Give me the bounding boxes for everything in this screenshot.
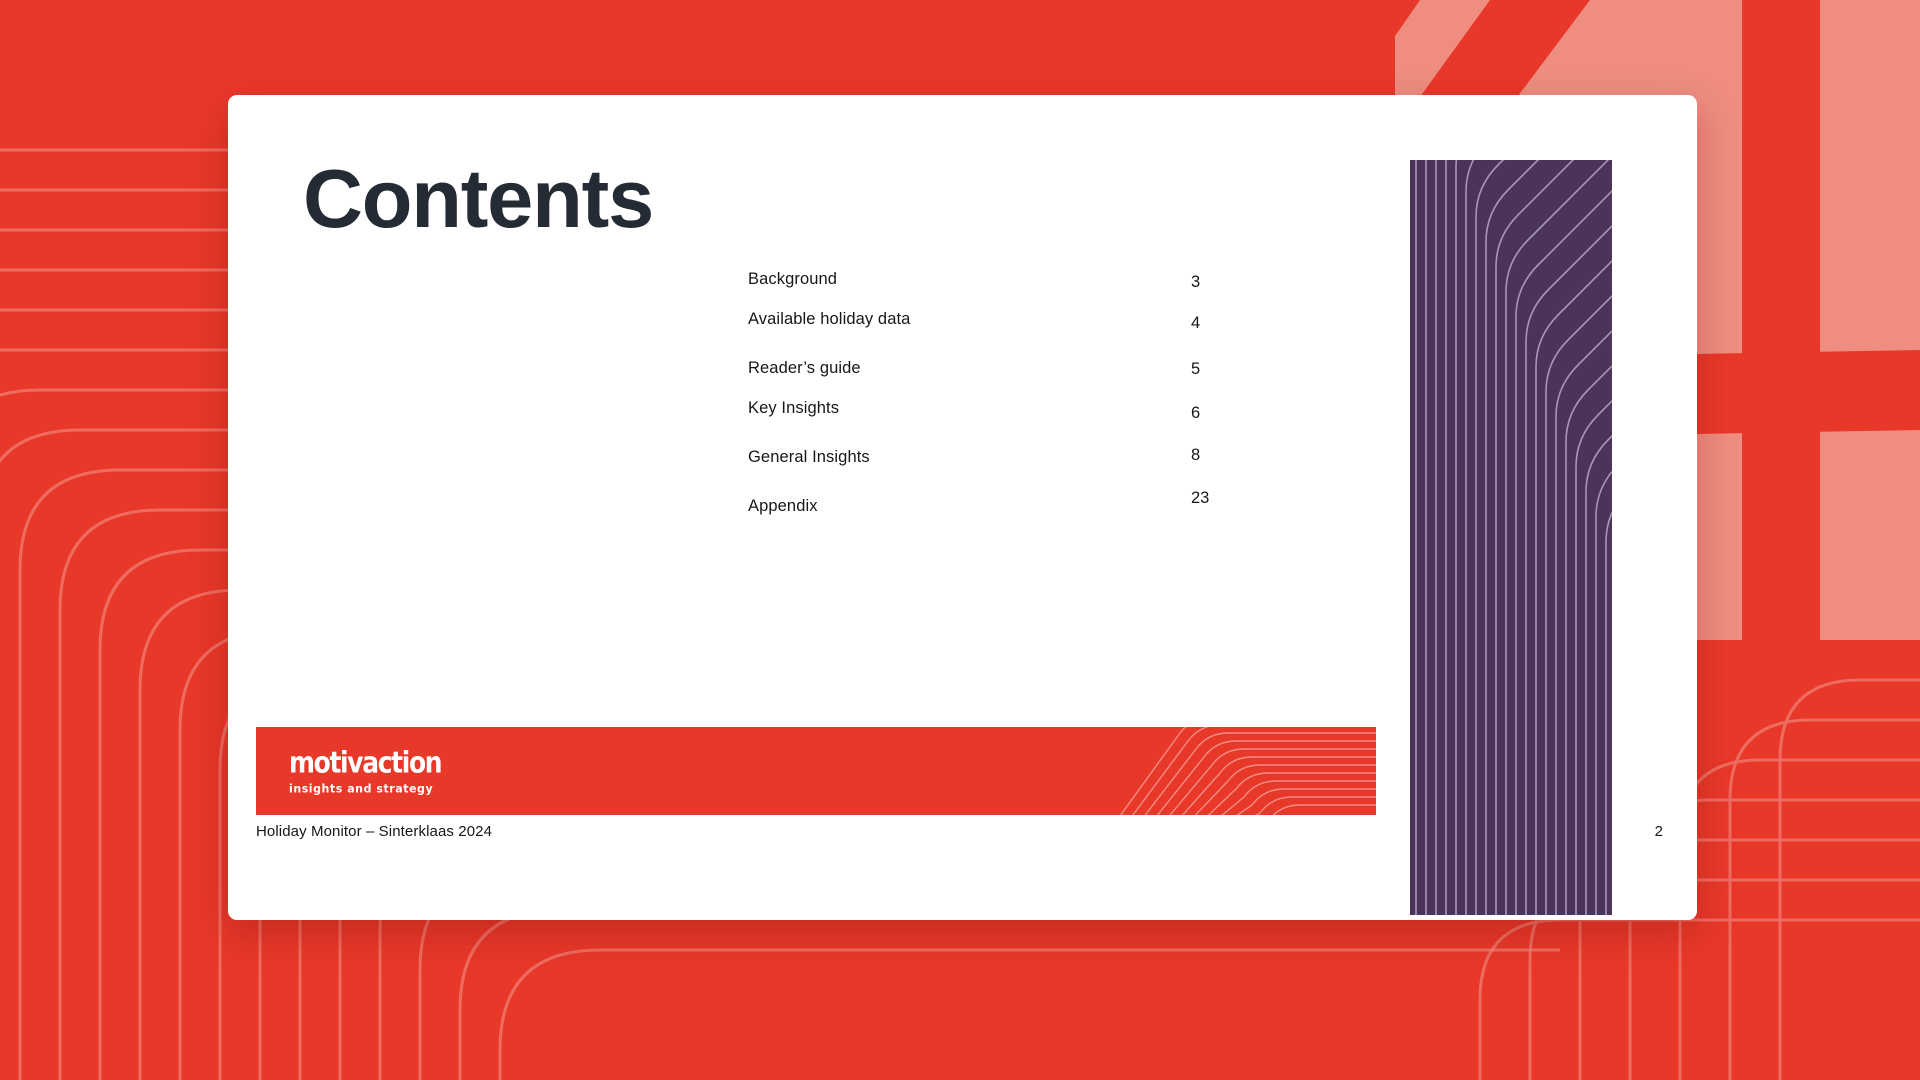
toc-entry-label: Key Insights <box>748 399 839 418</box>
toc-entry-label: General Insights <box>748 448 870 467</box>
toc-entry-page-number: 5 <box>1191 360 1200 379</box>
toc-entry-label: Appendix <box>748 497 818 516</box>
toc-entry-page-number: 23 <box>1191 489 1209 508</box>
purple-decorative-panel <box>1410 160 1612 915</box>
purple-panel-line-pattern <box>1410 160 1612 915</box>
motivaction-logo: motivaction insights and strategy <box>289 749 448 794</box>
logo-tagline: insights and strategy <box>289 783 448 795</box>
logo-wordmark: motivaction <box>289 749 441 778</box>
toc-entry-label: Reader’s guide <box>748 359 861 378</box>
footer-document-title: Holiday Monitor – Sinterklaas 2024 <box>256 823 492 840</box>
toc-entry-page-number: 6 <box>1191 404 1200 423</box>
toc-entry-page-number: 8 <box>1191 446 1200 465</box>
toc-entry-label: Available holiday data <box>748 310 910 329</box>
slide-card: Contents Background3Available holiday da… <box>228 95 1697 920</box>
toc-entry[interactable]: Appendix23 <box>748 270 1268 296</box>
toc-entry-page-number: 4 <box>1191 314 1200 333</box>
page-title: Contents <box>303 157 653 240</box>
logo-bar-line-pattern <box>1116 727 1376 815</box>
brand-footer-bar: motivaction insights and strategy <box>256 727 1376 815</box>
footer-page-number: 2 <box>1655 823 1663 840</box>
